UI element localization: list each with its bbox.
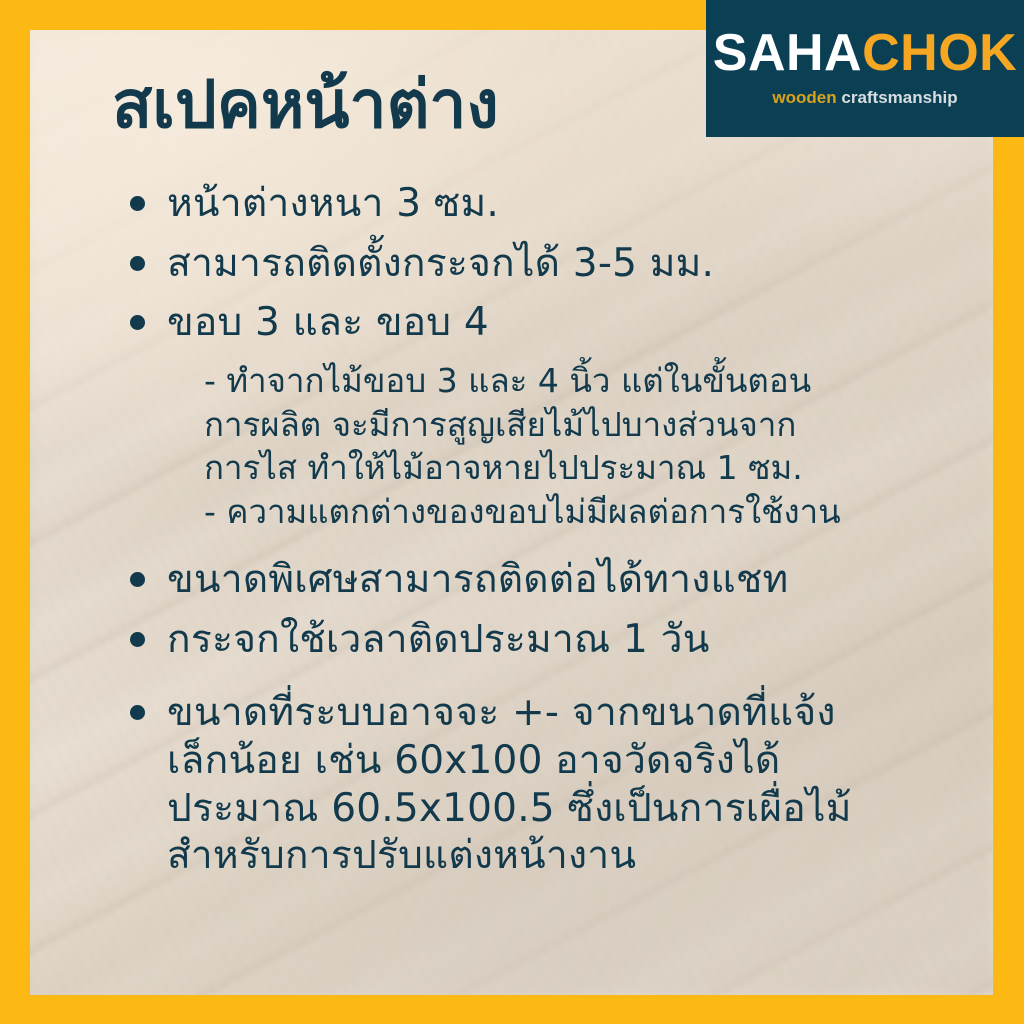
poster-content: สเปคหน้าต่าง หน้าต่างหนา 3 ซม. สามารถติด…: [30, 30, 994, 995]
list-item: ขอบ 3 และ ขอบ 4: [130, 299, 960, 347]
sub-note-group: - ทำจากไม้ขอบ 3 และ 4 นิ้ว แต่ในขั้นตอน …: [204, 359, 960, 535]
brand-tagline: wooden craftsmanship: [772, 89, 957, 106]
bullet-dot-icon: [130, 315, 145, 330]
spec-line: เล็กน้อย เช่น 60x100 อาจวัดจริงได้: [167, 737, 960, 785]
spec-line: สำหรับการปรับแต่งหน้างาน: [167, 832, 960, 880]
brand-logo-badge: SAHACHOK wooden craftsmanship: [706, 0, 1024, 137]
bullet-dot-icon: [130, 196, 145, 211]
list-item: ขนาดพิเศษสามารถติดต่อได้ทางแชท: [130, 556, 960, 604]
bullet-dot-icon: [130, 572, 145, 587]
spec-text: ขอบ 3 และ ขอบ 4: [167, 299, 960, 347]
list-item: กระจกใช้เวลาติดประมาณ 1 วัน: [130, 616, 960, 664]
list-item: หน้าต่างหนา 3 ซม.: [130, 180, 960, 228]
spec-text: ขนาดพิเศษสามารถติดต่อได้ทางแชท: [167, 556, 960, 604]
bullet-dot-icon: [130, 256, 145, 271]
sub-note-line: - ความแตกต่างของขอบไม่มีผลต่อการใช้งาน: [204, 490, 960, 534]
bullet-dot-icon: [130, 632, 145, 647]
spec-line: ประมาณ 60.5x100.5 ซึ่งเป็นการเผื่อไม้: [167, 785, 960, 833]
spec-line: ขนาดที่ระบบอาจจะ +- จากขนาดที่แจ้ง: [167, 689, 960, 737]
page-title: สเปคหน้าต่าง: [112, 72, 499, 138]
frame-border-bottom: [0, 995, 1024, 1024]
list-item: ขนาดที่ระบบอาจจะ +- จากขนาดที่แจ้ง เล็กน…: [130, 689, 960, 879]
brand-name: SAHACHOK: [713, 27, 1017, 79]
bullet-dot-icon: [130, 705, 145, 720]
sub-note-line: - ทำจากไม้ขอบ 3 และ 4 นิ้ว แต่ในขั้นตอน: [204, 359, 960, 403]
spec-text: สามารถติดตั้งกระจกได้ 3-5 มม.: [167, 240, 960, 288]
brand-tagline-part2: craftsmanship: [841, 88, 957, 107]
spec-text: หน้าต่างหนา 3 ซม.: [167, 180, 960, 228]
frame-border-right: [993, 0, 1024, 1024]
poster-root: SAHACHOK wooden craftsmanship สเปคหน้าต่…: [0, 0, 1024, 1024]
brand-name-part1: SAHA: [713, 24, 862, 82]
sub-note-line: การไส ทำให้ไม้อาจหายไปประมาณ 1 ซม.: [204, 446, 960, 490]
spec-text-multiline: ขนาดที่ระบบอาจจะ +- จากขนาดที่แจ้ง เล็กน…: [167, 689, 960, 879]
frame-border-left: [0, 0, 30, 1024]
brand-tagline-part1: wooden: [772, 88, 836, 107]
sub-note-line: การผลิต จะมีการสูญเสียไม้ไปบางส่วนจาก: [204, 403, 960, 447]
brand-name-part2: CHOK: [862, 24, 1017, 82]
spec-text: กระจกใช้เวลาติดประมาณ 1 วัน: [167, 616, 960, 664]
list-item: สามารถติดตั้งกระจกได้ 3-5 มม.: [130, 240, 960, 288]
spec-list: หน้าต่างหนา 3 ซม. สามารถติดตั้งกระจกได้ …: [130, 180, 960, 892]
